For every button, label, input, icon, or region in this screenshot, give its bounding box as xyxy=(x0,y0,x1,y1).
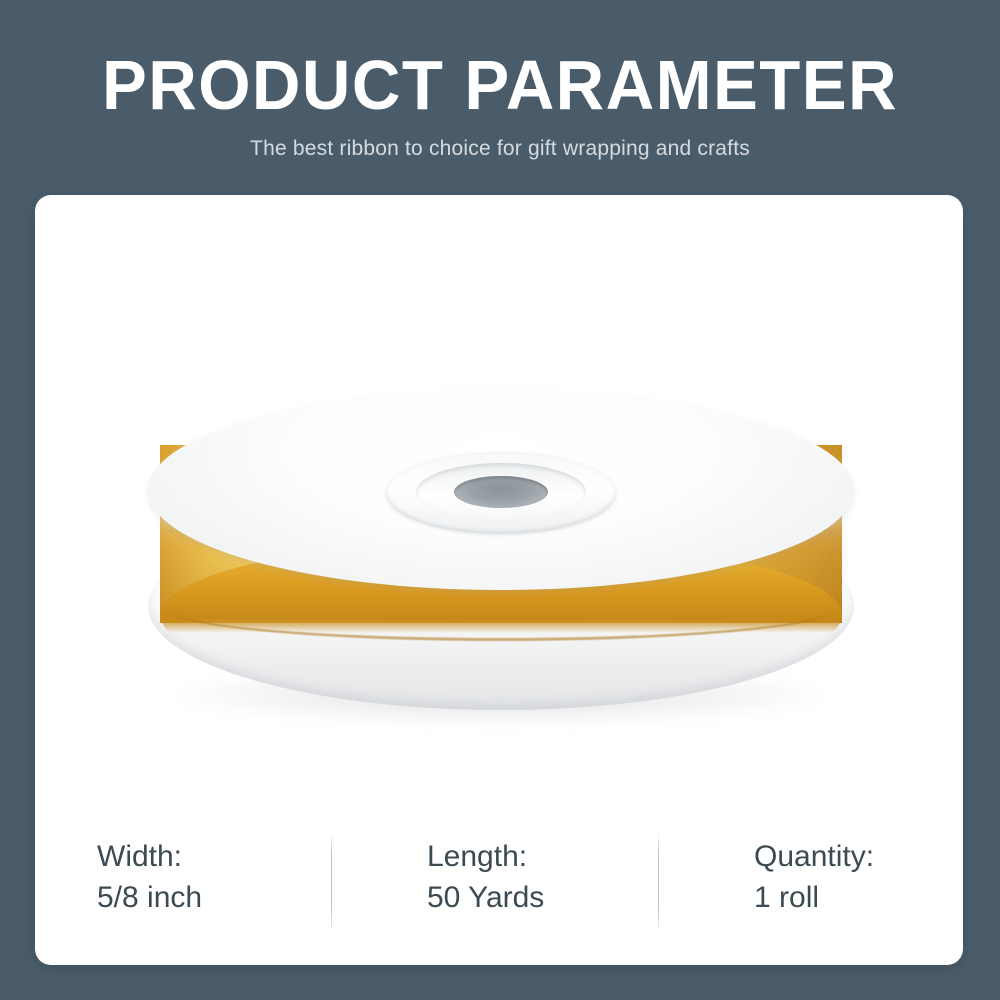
parameter-width-label: Width: xyxy=(97,837,335,877)
page-title: PRODUCT PARAMETER xyxy=(20,50,980,120)
parameter-quantity-label: Quantity: xyxy=(754,837,963,877)
product-card: Width: 5/8 inch Length: 50 Yards Quantit… xyxy=(35,195,963,965)
parameter-length-label: Length: xyxy=(427,837,662,877)
parameter-row: Width: 5/8 inch Length: 50 Yards Quantit… xyxy=(35,815,963,965)
parameter-width: Width: 5/8 inch xyxy=(35,815,335,919)
header: PRODUCT PARAMETER The best ribbon to cho… xyxy=(0,0,1000,195)
parameter-length: Length: 50 Yards xyxy=(335,815,662,919)
parameter-divider-2 xyxy=(658,833,659,933)
page-subtitle: The best ribbon to choice for gift wrapp… xyxy=(0,136,1000,162)
parameter-width-value: 5/8 inch xyxy=(97,877,335,919)
product-photo xyxy=(35,195,963,815)
ribbon-spool-image xyxy=(130,390,870,740)
spool-center-hole xyxy=(454,476,548,508)
parameter-quantity-value: 1 roll xyxy=(754,877,963,919)
parameter-quantity: Quantity: 1 roll xyxy=(662,815,963,919)
parameter-divider-1 xyxy=(331,833,332,933)
parameter-length-value: 50 Yards xyxy=(427,877,662,919)
